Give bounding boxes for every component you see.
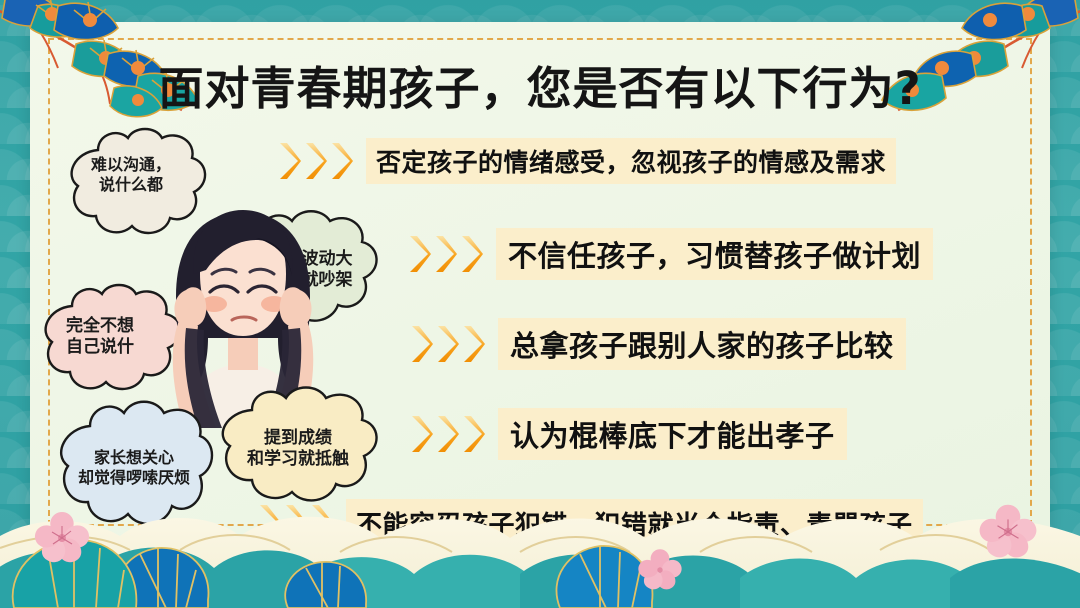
chevron-right-icon: [460, 234, 484, 274]
thought-bubble-parents-nagging: 家长想关心 却觉得啰嗦厌烦: [52, 398, 216, 538]
bubble-text: 家长想关心 却觉得啰嗦厌烦: [70, 448, 198, 487]
chevron-right-icon: [436, 414, 460, 454]
chevron-right-icon: [258, 503, 282, 543]
chevron-right-icon: [434, 234, 458, 274]
chevron-group: [410, 324, 488, 364]
chevron-right-icon: [304, 141, 328, 181]
behavior-text: 总拿孩子跟别人家的孩子比较: [498, 318, 906, 370]
chevron-right-icon: [278, 141, 302, 181]
behavior-row-3[interactable]: 总拿孩子跟别人家的孩子比较: [410, 318, 906, 370]
chevron-group: [278, 141, 356, 181]
chevron-group: [258, 503, 336, 543]
chevron-right-icon: [462, 324, 486, 364]
behavior-text: 否定孩子的情绪感受，忽视孩子的情感及需求: [366, 138, 896, 184]
behavior-text: 认为棍棒底下才能出孝子: [498, 408, 847, 460]
chevron-right-icon: [436, 324, 460, 364]
bubble-text: 提到成绩 和学习就抵触: [239, 428, 357, 469]
chevron-right-icon: [410, 324, 434, 364]
behavior-text: 不信任孩子，习惯替孩子做计划: [496, 228, 933, 280]
chevron-right-icon: [410, 414, 434, 454]
behavior-row-1[interactable]: 否定孩子的情绪感受，忽视孩子的情感及需求: [278, 138, 896, 184]
behavior-text: 不能容忍孩子犯错，犯错就当众指责、责骂孩子: [346, 499, 923, 547]
behavior-row-4[interactable]: 认为棍棒底下才能出孝子: [410, 408, 847, 460]
chevron-group: [408, 234, 486, 274]
behavior-row-5[interactable]: 不能容忍孩子犯错，犯错就当众指责、责骂孩子: [258, 499, 923, 547]
slide-canvas: 面对青春期孩子，您是否有以下行为?: [0, 0, 1080, 608]
chevron-right-icon: [284, 503, 308, 543]
chevron-right-icon: [408, 234, 432, 274]
chevron-right-icon: [462, 414, 486, 454]
page-title: 面对青春期孩子，您是否有以下行为?: [0, 52, 1080, 117]
thought-bubble-grades-resist: 提到成绩 和学习就抵触: [212, 384, 384, 514]
chevron-right-icon: [330, 141, 354, 181]
chevron-right-icon: [310, 503, 334, 543]
behavior-row-2[interactable]: 不信任孩子，习惯替孩子做计划: [408, 228, 933, 280]
chevron-group: [410, 414, 488, 454]
